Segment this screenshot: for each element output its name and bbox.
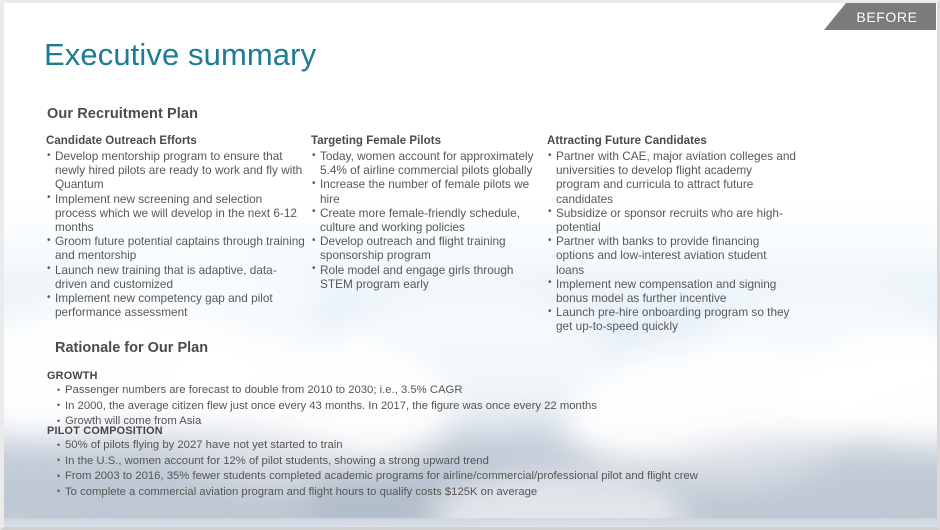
recruitment-column-attracting-future-candidates: Attracting Future Candidates Partner wit… — [547, 135, 797, 334]
section-heading-rationale: Rationale for Our Plan — [55, 340, 208, 356]
group-label: PILOT COMPOSITION — [47, 425, 698, 437]
column-heading: Candidate Outreach Efforts — [46, 135, 306, 147]
slide-bottom-strip — [0, 518, 940, 530]
list-item: Partner with CAE, major aviation college… — [547, 149, 797, 206]
list-item: Implement new screening and selection pr… — [46, 192, 306, 235]
list-item: Role model and engage girls through STEM… — [311, 263, 546, 291]
list-item: Develop mentorship program to ensure tha… — [46, 149, 306, 192]
column-heading: Attracting Future Candidates — [547, 135, 797, 147]
list-item: Implement new competency gap and pilot p… — [46, 291, 306, 319]
column-heading: Targeting Female Pilots — [311, 135, 546, 147]
bullet-list: Passenger numbers are forecast to double… — [47, 383, 597, 430]
rationale-group-growth: GROWTH Passenger numbers are forecast to… — [47, 370, 597, 430]
before-badge: BEFORE — [824, 3, 936, 30]
list-item: Today, women account for approximately 5… — [311, 149, 546, 177]
list-item: Partner with banks to provide financing … — [547, 234, 797, 277]
before-badge-label: BEFORE — [842, 9, 917, 25]
list-item: Subsidize or sponsor recruits who are hi… — [547, 206, 797, 234]
list-item: Groom future potential captains through … — [46, 234, 306, 262]
list-item: To complete a commercial aviation progra… — [57, 485, 698, 501]
list-item: Implement new compensation and signing b… — [547, 277, 797, 305]
page-title: Executive summary — [44, 37, 316, 73]
bullet-list: Partner with CAE, major aviation college… — [547, 149, 797, 334]
list-item: In 2000, the average citizen flew just o… — [57, 399, 597, 415]
recruitment-column-targeting-female-pilots: Targeting Female Pilots Today, women acc… — [311, 135, 546, 291]
list-item: Launch new training that is adaptive, da… — [46, 263, 306, 291]
section-heading-recruitment: Our Recruitment Plan — [47, 106, 198, 122]
list-item: Develop outreach and flight training spo… — [311, 234, 546, 262]
recruitment-column-candidate-outreach: Candidate Outreach Efforts Develop mento… — [46, 135, 306, 319]
list-item: 50% of pilots flying by 2027 have not ye… — [57, 438, 698, 454]
list-item: Create more female-friendly schedule, cu… — [311, 206, 546, 234]
rationale-group-pilot-composition: PILOT COMPOSITION 50% of pilots flying b… — [47, 425, 698, 500]
list-item: From 2003 to 2016, 35% fewer students co… — [57, 469, 698, 485]
list-item: Passenger numbers are forecast to double… — [57, 383, 597, 399]
list-item: Launch pre-hire onboarding program so th… — [547, 305, 797, 333]
bullet-list: Develop mentorship program to ensure tha… — [46, 149, 306, 319]
group-label: GROWTH — [47, 370, 597, 382]
bullet-list: Today, women account for approximately 5… — [311, 149, 546, 291]
list-item: In the U.S., women account for 12% of pi… — [57, 454, 698, 470]
list-item: Increase the number of female pilots we … — [311, 177, 546, 205]
presentation-slide: BEFORE Executive summary Our Recruitment… — [0, 0, 940, 530]
bullet-list: 50% of pilots flying by 2027 have not ye… — [47, 438, 698, 500]
